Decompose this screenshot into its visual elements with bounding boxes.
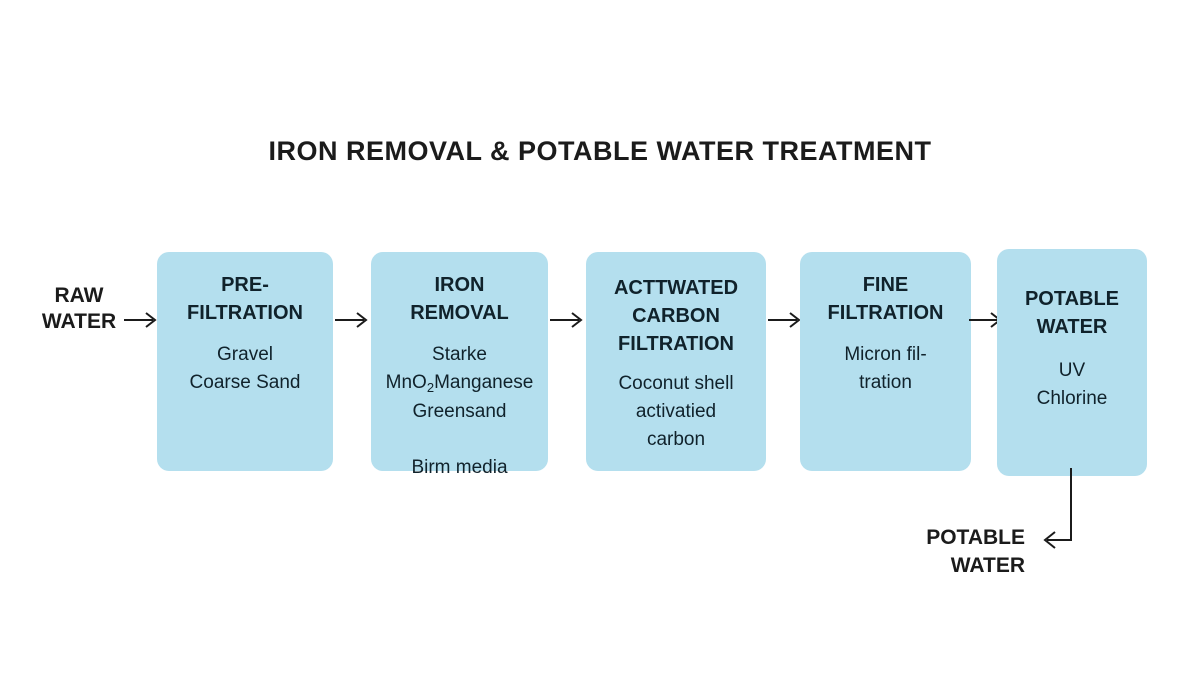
stage-details: UV Chlorine xyxy=(1037,357,1108,413)
stage-title: IRON REMOVAL xyxy=(410,271,509,327)
potable-water-output-label: POTABLE WATER xyxy=(880,524,1025,580)
stage-box-activated-carbon-filtration[interactable]: ACTTWATED CARBON FILTRATION Coconut shel… xyxy=(586,252,766,471)
stage-details: Starke MnO2Manganese Greensand Birm medi… xyxy=(377,341,542,482)
arrow-right-icon xyxy=(124,306,158,334)
arrow-right-icon xyxy=(335,306,369,334)
flow-diagram: IRON REMOVAL & POTABLE WATER TREATMENT R… xyxy=(0,0,1200,700)
arrow-right-icon xyxy=(550,306,584,334)
chemical-subscript: 2 xyxy=(427,380,434,395)
page-title: IRON REMOVAL & POTABLE WATER TREATMENT xyxy=(0,136,1200,167)
arrow-elbow-left-icon xyxy=(1035,468,1085,550)
stage-title: ACTTWATED CARBON FILTRATION xyxy=(614,274,738,358)
stage-box-pre-filtration[interactable]: PRE- FILTRATION Gravel Coarse Sand xyxy=(157,252,333,471)
stage-details: Coconut shell activatied carbon xyxy=(618,370,733,454)
stage-box-fine-filtration[interactable]: FINE FILTRATION Micron fil- tration xyxy=(800,252,971,471)
stage-title: PRE- FILTRATION xyxy=(187,271,303,327)
stage-title: FINE FILTRATION xyxy=(828,271,944,327)
stage-box-potable-water[interactable]: POTABLE WATER UV Chlorine xyxy=(997,249,1147,476)
stage-title: POTABLE WATER xyxy=(1025,285,1119,341)
stage-details: Micron fil- tration xyxy=(844,341,926,397)
stage-details: Gravel Coarse Sand xyxy=(190,341,301,397)
raw-water-input-label: RAW WATER xyxy=(18,283,140,335)
stage-box-iron-removal[interactable]: IRON REMOVAL Starke MnO2Manganese Greens… xyxy=(371,252,548,471)
arrow-right-icon xyxy=(768,306,802,334)
